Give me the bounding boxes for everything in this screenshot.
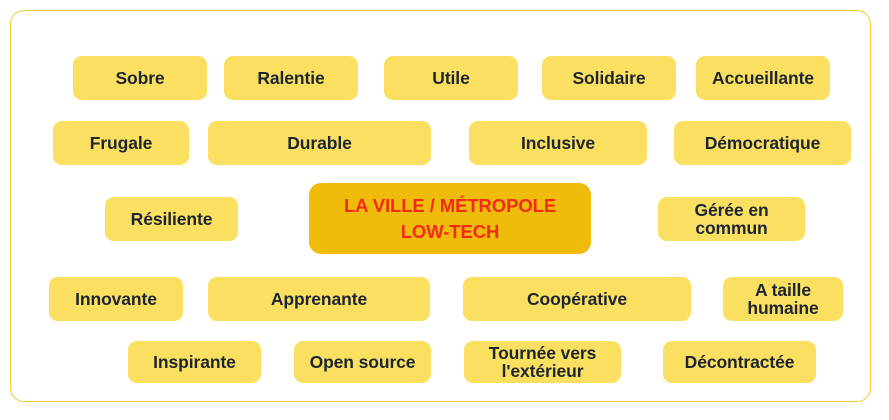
tag-frugale: Frugale <box>53 121 189 165</box>
center-node-line-1: LA VILLE / MÉTROPOLE <box>344 193 556 219</box>
tag-d-contract-e: Décontractée <box>663 341 816 383</box>
center-node: LA VILLE / MÉTROPOLE LOW-TECH <box>309 183 591 254</box>
tag-utile: Utile <box>384 56 518 100</box>
tag-inclusive: Inclusive <box>469 121 647 165</box>
tag-sobre: Sobre <box>73 56 207 100</box>
tag-durable: Durable <box>208 121 431 165</box>
tag-r-siliente: Résiliente <box>105 197 238 241</box>
tag-tourn-e-vers-l-ext-rieur: Tournée vers l'extérieur <box>464 341 621 383</box>
tag-accueillante: Accueillante <box>696 56 830 100</box>
diagram-canvas: SobreRalentieUtileSolidaireAccueillanteF… <box>0 0 889 420</box>
tag-inspirante: Inspirante <box>128 341 261 383</box>
tag-open-source: Open source <box>294 341 431 383</box>
center-node-line-2: LOW-TECH <box>401 219 500 245</box>
tag-apprenante: Apprenante <box>208 277 430 321</box>
tag-coop-rative: Coopérative <box>463 277 691 321</box>
tag-ralentie: Ralentie <box>224 56 358 100</box>
tag-d-mocratique: Démocratique <box>674 121 851 165</box>
tag-g-r-e-en-commun: Gérée en commun <box>658 197 805 241</box>
tag-innovante: Innovante <box>49 277 183 321</box>
tag-a-taille-humaine: A taille humaine <box>723 277 843 321</box>
tag-solidaire: Solidaire <box>542 56 676 100</box>
diagram-frame: SobreRalentieUtileSolidaireAccueillanteF… <box>10 10 871 402</box>
